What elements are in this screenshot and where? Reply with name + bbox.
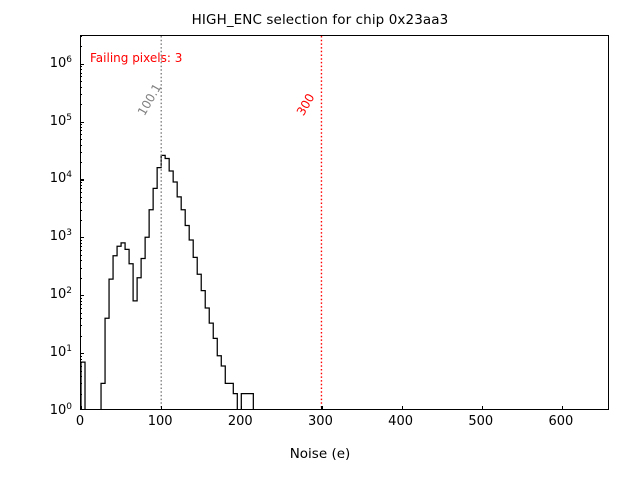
y-minor-tick — [80, 104, 82, 105]
y-minor-tick — [80, 36, 82, 37]
y-tick-mark — [80, 64, 84, 65]
y-minor-tick — [80, 152, 82, 153]
y-tick-mark — [80, 122, 84, 123]
y-minor-tick — [80, 87, 82, 88]
y-minor-tick — [80, 66, 82, 67]
y-minor-tick — [80, 318, 82, 319]
y-minor-tick — [80, 366, 82, 367]
y-minor-tick — [80, 376, 82, 377]
y-tick-label: 100 — [50, 402, 72, 418]
y-minor-tick — [80, 304, 82, 305]
failing-pixels-annotation: Failing pixels: 3 — [90, 51, 182, 65]
y-minor-tick — [80, 250, 82, 251]
page-title: HIGH_ENC selection for chip 0x23aa3 — [0, 12, 640, 28]
x-tick-label: 400 — [388, 414, 413, 429]
y-minor-tick — [80, 308, 82, 309]
y-tick-mark — [80, 353, 84, 354]
y-minor-tick — [80, 197, 82, 198]
y-minor-tick — [80, 188, 82, 189]
y-minor-tick — [80, 260, 82, 261]
y-minor-tick — [80, 73, 82, 74]
y-minor-tick — [80, 134, 82, 135]
y-minor-tick — [80, 362, 82, 363]
y-minor-tick — [80, 192, 82, 193]
y-minor-tick — [80, 127, 82, 128]
y-minor-tick — [80, 255, 82, 256]
y-minor-tick — [80, 313, 82, 314]
y-minor-tick — [80, 185, 82, 186]
y-minor-tick — [80, 139, 82, 140]
x-axis-label: Noise (e) — [0, 446, 640, 462]
y-minor-tick — [80, 240, 82, 241]
y-minor-tick — [80, 69, 82, 70]
y-minor-tick — [80, 202, 82, 203]
y-tick-mark — [80, 179, 84, 180]
y-minor-tick — [80, 268, 82, 269]
x-tick-label: 300 — [308, 414, 333, 429]
y-minor-tick — [80, 76, 82, 77]
y-tick-mark — [80, 295, 84, 296]
x-tick-label: 500 — [468, 414, 493, 429]
y-minor-tick — [80, 130, 82, 131]
y-minor-tick — [80, 356, 82, 357]
y-minor-tick — [80, 94, 82, 95]
y-minor-tick — [80, 278, 82, 279]
y-minor-tick — [80, 383, 82, 384]
y-minor-tick — [80, 162, 82, 163]
y-tick-label: 101 — [50, 344, 72, 360]
y-minor-tick — [80, 371, 82, 372]
x-tick-label: 200 — [228, 414, 253, 429]
x-tick-label: 0 — [76, 414, 84, 429]
y-minor-tick — [80, 210, 82, 211]
y-tick-label: 103 — [50, 228, 72, 244]
y-minor-tick — [80, 325, 82, 326]
y-minor-tick — [80, 243, 82, 244]
y-minor-tick — [80, 182, 82, 183]
y-minor-tick — [80, 336, 82, 337]
matplotlib-figure: HIGH_ENC selection for chip 0x23aa3 Numb… — [0, 0, 640, 480]
x-tick-label: 600 — [548, 414, 573, 429]
y-minor-tick — [80, 298, 82, 299]
y-tick-label: 106 — [50, 54, 72, 70]
y-minor-tick — [80, 124, 82, 125]
y-tick-mark — [80, 237, 84, 238]
y-minor-tick — [80, 81, 82, 82]
y-tick-label: 105 — [50, 112, 72, 128]
y-minor-tick — [80, 220, 82, 221]
y-minor-tick — [80, 394, 82, 395]
y-minor-tick — [80, 246, 82, 247]
y-tick-label: 104 — [50, 170, 72, 186]
y-minor-tick — [80, 145, 82, 146]
y-minor-tick — [80, 301, 82, 302]
y-tick-label: 102 — [50, 286, 72, 302]
histogram-step-line — [81, 155, 498, 410]
y-minor-tick — [80, 46, 82, 47]
x-tick-label: 100 — [148, 414, 173, 429]
y-minor-tick — [80, 359, 82, 360]
